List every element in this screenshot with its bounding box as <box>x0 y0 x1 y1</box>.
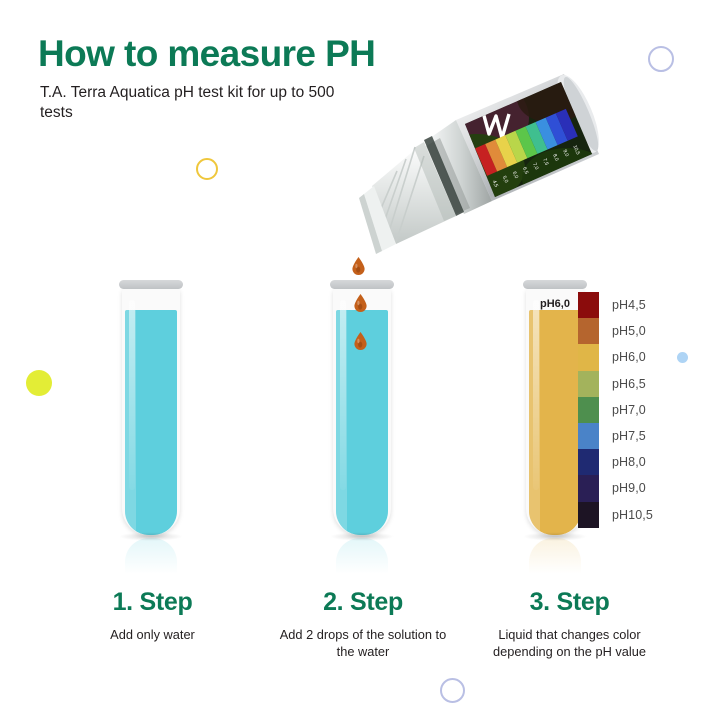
legend-label: pH8,0 <box>612 455 646 469</box>
tube-step-2 <box>333 280 391 535</box>
drop-inside-air <box>354 294 367 312</box>
ph-test-dropper-bottle: 4,5 5,0 6,0 6,5 7,0 7,5 8,0 9,0 10,5 <box>352 58 602 278</box>
tube-highlight <box>340 300 346 490</box>
step-title: 3. Step <box>472 588 667 617</box>
dot-blue-right <box>677 352 688 363</box>
step-title: 2. Step <box>268 588 458 617</box>
legend-label: pH7,0 <box>612 403 646 417</box>
step-description: Add 2 drops of the solution to the water <box>273 626 453 661</box>
legend-color-swatch <box>578 344 599 370</box>
tube-ph-value-label: pH6,0 <box>526 298 584 310</box>
legend-label: pH6,5 <box>612 377 646 391</box>
legend-label: pH7,5 <box>612 429 646 443</box>
legend-label: pH5,0 <box>612 324 646 338</box>
test-tube: pH6,0 <box>526 280 584 535</box>
tube-rim <box>330 280 394 289</box>
drop-inside-liquid <box>354 332 367 350</box>
step-3: 3. StepLiquid that changes color dependi… <box>472 588 667 661</box>
legend-label: pH10,5 <box>612 508 653 522</box>
step-title: 1. Step <box>60 588 245 617</box>
legend-color-swatch <box>578 475 599 501</box>
step-1: 1. StepAdd only water <box>60 588 245 643</box>
legend-row: pH10,5 <box>578 502 653 528</box>
tube-reflection <box>125 538 177 574</box>
legend-label: pH6,0 <box>612 350 646 364</box>
infographic-canvas: How to measure PH T.A. Terra Aquatica pH… <box>0 0 720 720</box>
legend-color-swatch <box>578 318 599 344</box>
legend-color-swatch <box>578 502 599 528</box>
tube-reflection <box>529 538 581 574</box>
test-tube <box>333 280 391 535</box>
legend-label: pH9,0 <box>612 481 646 495</box>
tube-rim <box>523 280 587 289</box>
legend-color-swatch <box>578 423 599 449</box>
ring-purple-top-right <box>648 46 674 72</box>
step-description: Liquid that changes color depending on t… <box>477 626 662 661</box>
dot-yellow-left <box>26 370 52 396</box>
step-2: 2. StepAdd 2 drops of the solution to th… <box>268 588 458 661</box>
test-tube <box>122 280 180 535</box>
ph-color-scale: pH4,5pH5,0pH6,0pH6,5pH7,0pH7,5pH8,0pH9,0… <box>578 292 653 528</box>
legend-color-swatch <box>578 371 599 397</box>
bottle-body-group: 4,5 5,0 6,0 6,5 7,0 7,5 8,0 9,0 10,5 <box>359 70 602 254</box>
page-subtitle: T.A. Terra Aquatica pH test kit for up t… <box>40 83 370 124</box>
tube-step-1 <box>122 280 180 535</box>
legend-color-swatch <box>578 449 599 475</box>
step-description: Add only water <box>78 626 228 643</box>
legend-row: pH6,0 <box>578 344 653 370</box>
legend-color-swatch <box>578 397 599 423</box>
ring-yellow-upper-left <box>196 158 218 180</box>
ring-purple-bottom <box>440 678 465 703</box>
drop-falling-outside <box>352 257 365 275</box>
tube-rim <box>119 280 183 289</box>
legend-row: pH9,0 <box>578 475 653 501</box>
legend-row: pH7,5 <box>578 423 653 449</box>
tube-highlight <box>533 300 539 490</box>
tube-step-3: pH6,0 <box>526 280 584 535</box>
legend-row: pH4,5 <box>578 292 653 318</box>
legend-label: pH4,5 <box>612 298 646 312</box>
tube-highlight <box>129 300 135 490</box>
legend-row: pH6,5 <box>578 371 653 397</box>
legend-row: pH7,0 <box>578 397 653 423</box>
tube-reflection <box>336 538 388 574</box>
legend-row: pH8,0 <box>578 449 653 475</box>
legend-row: pH5,0 <box>578 318 653 344</box>
